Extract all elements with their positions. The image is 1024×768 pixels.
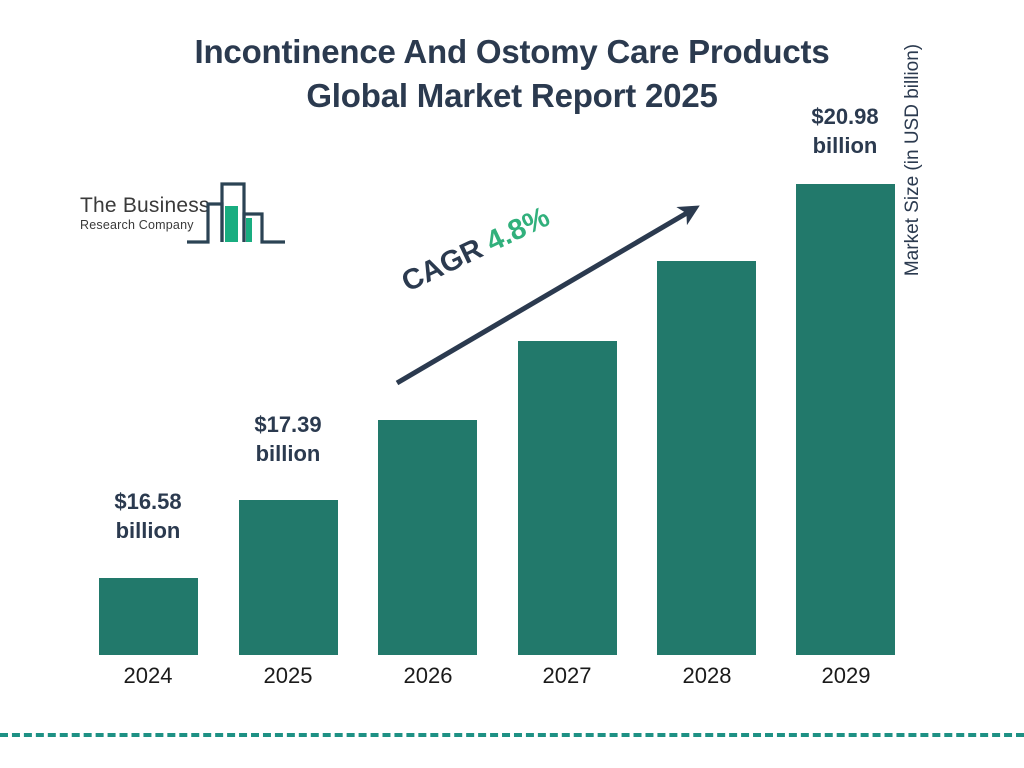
bar-2024 xyxy=(99,578,198,655)
x-tick-2029: 2029 xyxy=(766,662,926,690)
bar-2028 xyxy=(657,261,756,655)
bar-2027 xyxy=(518,341,617,655)
bar-2025 xyxy=(239,500,338,655)
cagr-annotation-label: CAGR xyxy=(397,233,488,299)
cagr-annotation-value: 4.8% xyxy=(481,201,554,258)
x-tick-2027: 2027 xyxy=(487,662,647,690)
footer-divider xyxy=(0,733,1024,737)
y-axis-title: Market Size (in USD billion) xyxy=(893,0,933,330)
bar-2026 xyxy=(378,420,477,655)
bar-2029 xyxy=(796,184,895,655)
bar-chart-plot-area: $16.58 billion $17.39 billion $20.98 bil… xyxy=(0,0,1024,768)
bar-value-2025-unit: billion xyxy=(208,439,368,468)
bar-value-2024-unit: billion xyxy=(68,516,228,545)
bar-value-2025-amount: $17.39 xyxy=(208,410,368,439)
x-tick-2026: 2026 xyxy=(348,662,508,690)
x-tick-2024: 2024 xyxy=(68,662,228,690)
x-tick-2028: 2028 xyxy=(627,662,787,690)
x-tick-2025: 2025 xyxy=(208,662,368,690)
bar-value-2024: $16.58 billion xyxy=(68,487,228,545)
bar-value-2024-amount: $16.58 xyxy=(68,487,228,516)
bar-value-2025: $17.39 billion xyxy=(208,410,368,468)
cagr-annotation: CAGR 4.8% xyxy=(397,201,555,299)
